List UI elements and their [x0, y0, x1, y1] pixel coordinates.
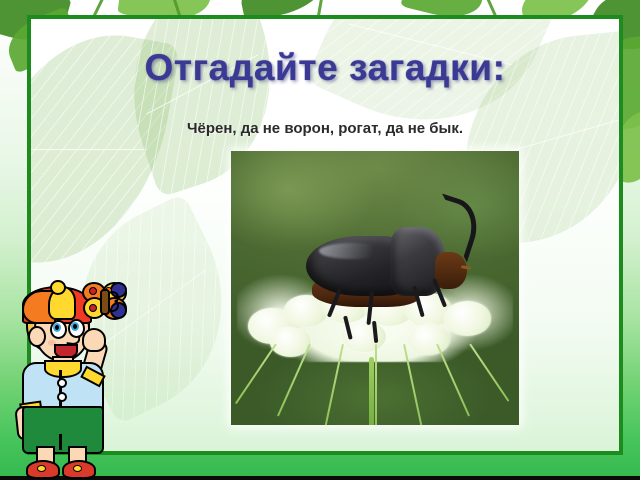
flower-ray: [375, 344, 377, 425]
beetle-photo: [231, 151, 519, 425]
boy-waving-hand: [82, 328, 106, 352]
boy-shorts-seam: [59, 434, 62, 450]
boy-shoe-detail: [37, 465, 46, 472]
boy-shoe-detail: [73, 465, 82, 472]
slide-canvas: Отгадайте загадки: Чёрен, да не ворон, р…: [0, 0, 640, 480]
boy-pupil: [73, 324, 77, 329]
rhinoceros-beetle: [306, 206, 467, 321]
riddle-text: Чёрен, да не ворон, рогат, да не бык.: [31, 120, 619, 137]
flower-stalk: [369, 357, 374, 425]
boy-shirt-placket: [59, 370, 62, 410]
cartoon-butterfly: [82, 282, 124, 320]
butterfly-spot: [89, 304, 97, 312]
boy-pupil: [55, 325, 59, 330]
butterfly-spot: [89, 287, 97, 295]
boy-collar: [44, 360, 82, 378]
beetle-highlight: [319, 243, 387, 259]
floret: [408, 324, 449, 355]
boy-shorts: [22, 406, 104, 454]
boy-shirt-button: [57, 392, 67, 402]
page-title: Отгадайте загадки:: [31, 47, 619, 89]
boy-ear: [28, 326, 46, 347]
boy-shirt-button: [57, 378, 67, 388]
boy-cap-knob: [50, 280, 66, 295]
